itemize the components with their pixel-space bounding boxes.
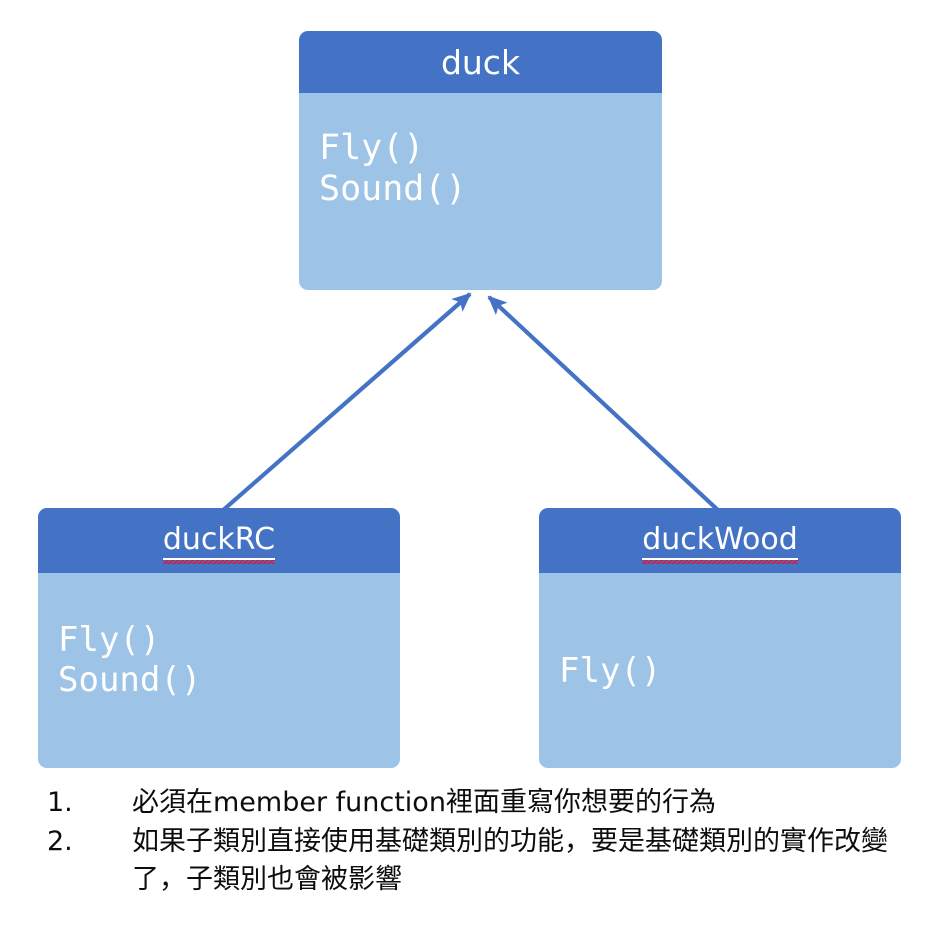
- uml-class-duckwood-header: duckWood: [539, 508, 901, 573]
- list-item: 1. 必須在member function裡面重寫你想要的行為: [47, 784, 927, 823]
- uml-class-duckrc-header: duckRC: [38, 508, 400, 573]
- uml-class-duckrc-members: Fly() Sound(): [38, 573, 400, 768]
- uml-class-duck-title: duck: [441, 43, 520, 82]
- list-item-text: 必須在member function裡面重寫你想要的行為: [132, 784, 927, 823]
- uml-class-duckrc[interactable]: duckRC Fly() Sound(): [38, 508, 400, 768]
- uml-class-duck[interactable]: duck Fly() Sound(): [299, 31, 662, 290]
- diagram-canvas: duck Fly() Sound() duckRC Fly() Sound() …: [0, 0, 939, 940]
- uml-class-duck-members: Fly() Sound(): [299, 93, 662, 290]
- uml-class-duck-header: duck: [299, 31, 662, 93]
- connector-duckrc-to-duck: [221, 294, 470, 512]
- notes-list: 1. 必須在member function裡面重寫你想要的行為 2. 如果子類別…: [47, 784, 927, 900]
- uml-class-duckwood-members: Fly(): [539, 573, 901, 768]
- connector-duckwood-to-duck: [489, 297, 720, 512]
- list-item: 2. 如果子類別直接使用基礎類別的功能，要是基礎類別的實作改變了，子類別也會被影…: [47, 823, 927, 900]
- uml-class-duckwood[interactable]: duckWood Fly(): [539, 508, 901, 768]
- list-item-marker: 2.: [47, 823, 132, 862]
- uml-class-duckwood-title: duckWood: [642, 522, 798, 560]
- uml-class-duckrc-title: duckRC: [163, 522, 275, 560]
- list-item-text: 如果子類別直接使用基礎類別的功能，要是基礎類別的實作改變了，子類別也會被影響: [132, 823, 927, 900]
- list-item-marker: 1.: [47, 784, 132, 823]
